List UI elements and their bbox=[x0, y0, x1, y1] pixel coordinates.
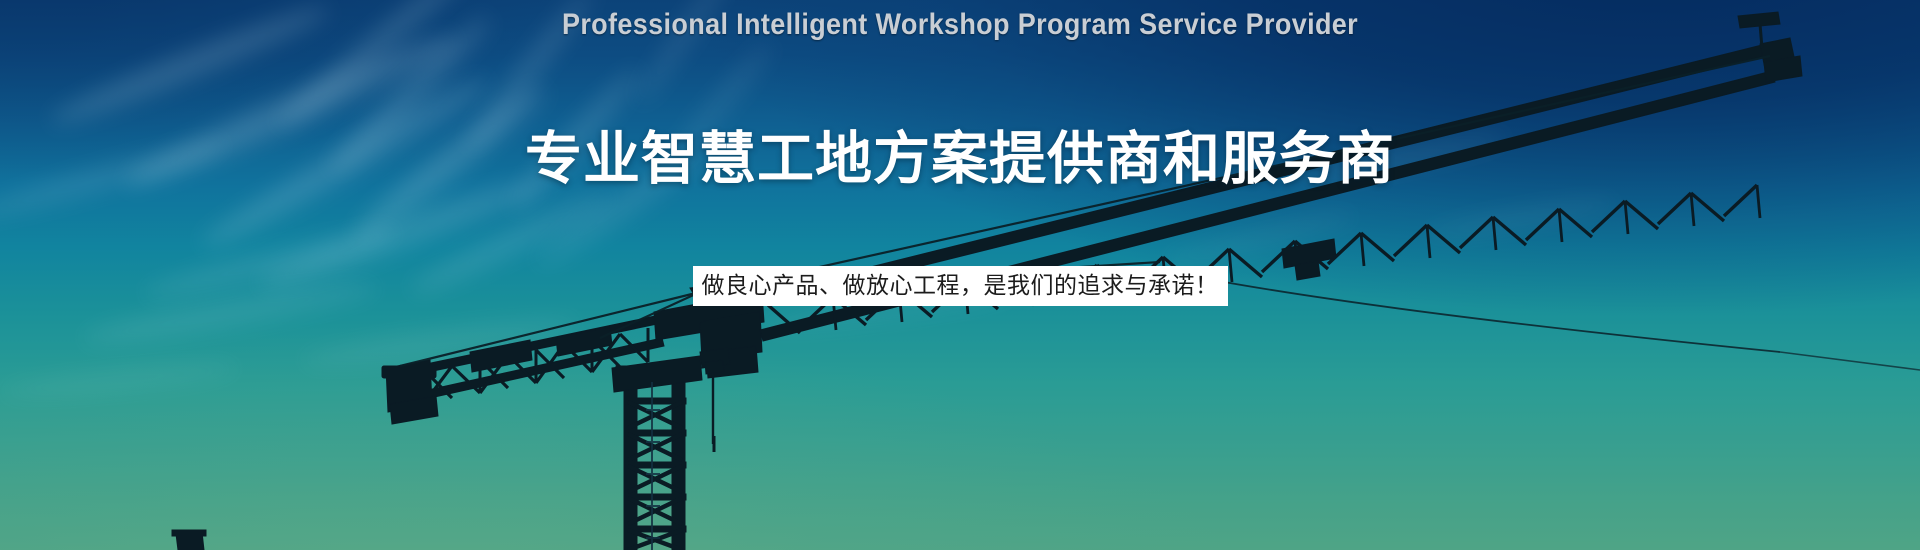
banner-headline: 专业智慧工地方案提供商和服务商 bbox=[0, 128, 1920, 190]
hero-banner: Professional Intelligent Workshop Progra… bbox=[0, 0, 1920, 550]
banner-english-tagline: Professional Intelligent Workshop Progra… bbox=[96, 8, 1824, 42]
banner-subtitle-container: 做良心产品、做放心工程，是我们的追求与承诺！ bbox=[0, 266, 1920, 306]
banner-subtitle: 做良心产品、做放心工程，是我们的追求与承诺！ bbox=[693, 266, 1228, 306]
